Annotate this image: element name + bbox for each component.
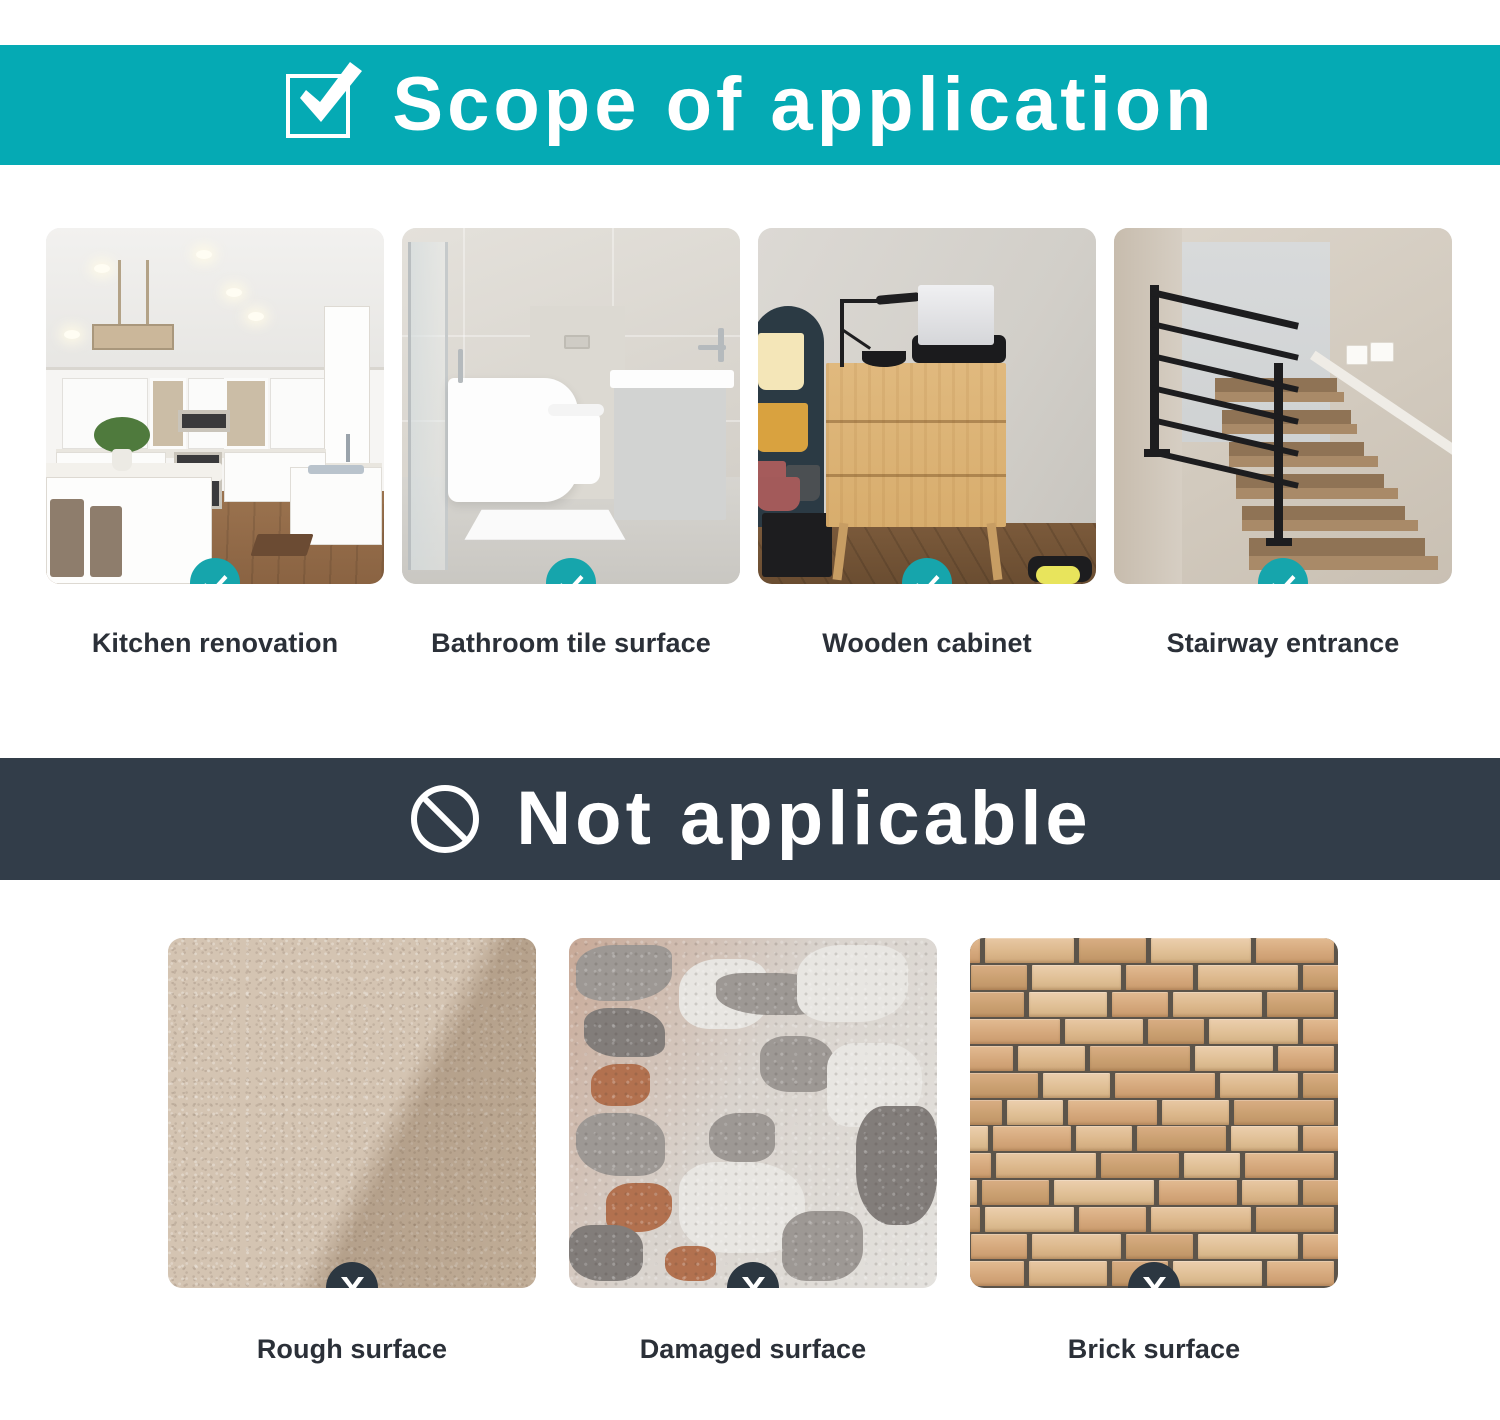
card-caption: Brick surface bbox=[1068, 1334, 1240, 1365]
rough-stucco-photo: X bbox=[168, 938, 536, 1288]
card-caption: Wooden cabinet bbox=[822, 628, 1031, 659]
wooden-cabinet-photo bbox=[758, 228, 1096, 584]
x-badge-glyph: X bbox=[741, 1272, 765, 1288]
card-caption: Damaged surface bbox=[640, 1334, 867, 1365]
card-caption: Rough surface bbox=[257, 1334, 447, 1365]
not-applicable-card-brick: X Brick surface bbox=[970, 938, 1338, 1365]
applicable-items-row: Kitchen renovation bbox=[46, 228, 1458, 659]
applicable-card-kitchen: Kitchen renovation bbox=[46, 228, 384, 659]
applicable-card-cabinet: Wooden cabinet bbox=[758, 228, 1096, 659]
scope-of-application-page: Scope of application bbox=[0, 0, 1500, 1420]
bathroom-photo bbox=[402, 228, 740, 584]
card-caption: Stairway entrance bbox=[1167, 628, 1400, 659]
not-applicable-card-rough: X Rough surface bbox=[168, 938, 536, 1365]
card-caption: Kitchen renovation bbox=[92, 628, 338, 659]
not-applicable-items-row: X Rough surface bbox=[168, 938, 1338, 1365]
kitchen-photo bbox=[46, 228, 384, 584]
not-applicable-card-damaged: X Damaged surface bbox=[569, 938, 937, 1365]
x-badge-glyph: X bbox=[1142, 1272, 1166, 1288]
applicable-card-bathroom: Bathroom tile surface bbox=[402, 228, 740, 659]
applicable-card-stairway: Stairway entrance bbox=[1114, 228, 1452, 659]
card-caption: Bathroom tile surface bbox=[431, 628, 711, 659]
not-applicable-banner: Not applicable bbox=[0, 758, 1500, 880]
brick-wall-photo: X bbox=[970, 938, 1338, 1288]
x-badge-glyph: X bbox=[340, 1272, 364, 1288]
scope-banner: Scope of application bbox=[0, 45, 1500, 165]
not-applicable-banner-title: Not applicable bbox=[516, 781, 1091, 857]
stairway-photo bbox=[1114, 228, 1452, 584]
checkbox-checked-icon bbox=[284, 68, 358, 142]
damaged-paint-photo: X bbox=[569, 938, 937, 1288]
prohibition-icon bbox=[408, 782, 482, 856]
scope-banner-title: Scope of application bbox=[392, 67, 1215, 143]
